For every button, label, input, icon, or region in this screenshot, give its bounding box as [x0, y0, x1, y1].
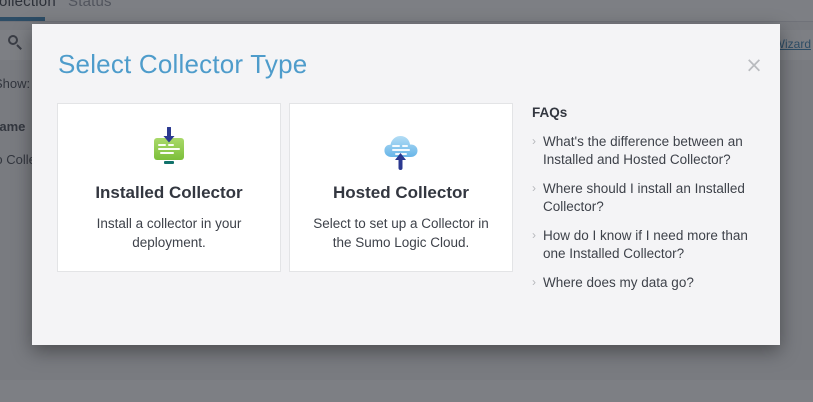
card-title: Installed Collector	[95, 183, 242, 203]
card-description: Install a collector in your deployment.	[79, 214, 259, 252]
card-title: Hosted Collector	[333, 183, 469, 203]
close-icon[interactable]: ×	[743, 54, 765, 76]
faq-item[interactable]: › What's the difference between an Insta…	[532, 133, 754, 168]
faq-item-label: Where should I install an Installed Coll…	[543, 180, 754, 215]
faq-item-label: Where does my data go?	[543, 274, 694, 292]
installed-collector-icon	[146, 127, 192, 171]
app-root: Collection Status Search Show: All Name …	[0, 0, 813, 402]
card-description: Select to set up a Collector in the Sumo…	[311, 214, 491, 252]
chevron-right-icon: ›	[532, 180, 536, 215]
faq-item[interactable]: › How do I know if I need more than one …	[532, 227, 754, 262]
faq-item[interactable]: › Where does my data go?	[532, 274, 754, 292]
select-collector-type-dialog: × Select Collector Type	[32, 24, 780, 345]
faq-section: FAQs › What's the difference between an …	[532, 105, 754, 304]
faq-item-label: What's the difference between an Install…	[543, 133, 754, 168]
faq-item[interactable]: › Where should I install an Installed Co…	[532, 180, 754, 215]
faq-item-label: How do I know if I need more than one In…	[543, 227, 754, 262]
chevron-right-icon: ›	[532, 274, 536, 292]
collector-type-options: Installed Collector Install a collector …	[57, 103, 513, 272]
faq-heading: FAQs	[532, 105, 754, 120]
chevron-right-icon: ›	[532, 227, 536, 262]
hosted-collector-icon	[378, 127, 424, 171]
chevron-right-icon: ›	[532, 133, 536, 168]
card-installed-collector[interactable]: Installed Collector Install a collector …	[57, 103, 281, 272]
card-hosted-collector[interactable]: Hosted Collector Select to set up a Coll…	[289, 103, 513, 272]
dialog-title: Select Collector Type	[58, 49, 307, 80]
